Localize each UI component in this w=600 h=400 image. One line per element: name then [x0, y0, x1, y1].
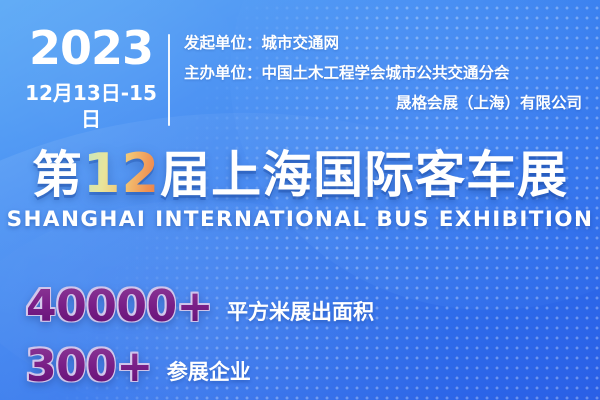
year-text: 2023 — [18, 22, 164, 74]
date-block: 2023 12月13日-15日 — [18, 22, 164, 132]
stat-value-exhibitors: 300+ — [26, 342, 153, 392]
title-suffix: 届上海国际客车展 — [160, 146, 568, 204]
stat-label-exhibitors: 参展企业 — [167, 357, 251, 387]
event-dates-text: 12月13日-15日 — [18, 80, 164, 132]
title-chinese: 第12届上海国际客车展 — [0, 143, 600, 205]
stat-row: 300+ 参展企业 — [0, 336, 600, 392]
organizer-line-initiator: 发起单位：城市交通网 — [184, 28, 588, 58]
organizer-line-company: 晟格会展（上海）有限公司 — [184, 88, 588, 118]
stat-row: 40000+ 平方米展出面积 — [0, 276, 600, 332]
poster-header: 2023 12月13日-15日 发起单位：城市交通网 主办单位：中国土木工程学会… — [0, 0, 600, 140]
title-edition-number: 12 — [83, 142, 160, 205]
exhibition-poster: 2023 12月13日-15日 发起单位：城市交通网 主办单位：中国土木工程学会… — [0, 0, 600, 400]
vertical-divider — [168, 34, 170, 126]
organizer-block: 发起单位：城市交通网 主办单位：中国土木工程学会城市公共交通分会 晟格会展（上海… — [184, 28, 588, 118]
title-english: SHANGHAI INTERNATIONAL BUS EXHIBITION — [0, 207, 600, 232]
poster-stats-block: 40000+ 平方米展出面积 300+ 参展企业 — [0, 276, 600, 392]
stat-value-area: 40000+ — [26, 282, 213, 332]
organizer-line-host: 主办单位：中国土木工程学会城市公共交通分会 — [184, 58, 588, 88]
stat-label-area: 平方米展出面积 — [227, 297, 374, 327]
poster-title-block: 第12届上海国际客车展 SHANGHAI INTERNATIONAL BUS E… — [0, 143, 600, 232]
title-prefix: 第 — [32, 146, 83, 204]
